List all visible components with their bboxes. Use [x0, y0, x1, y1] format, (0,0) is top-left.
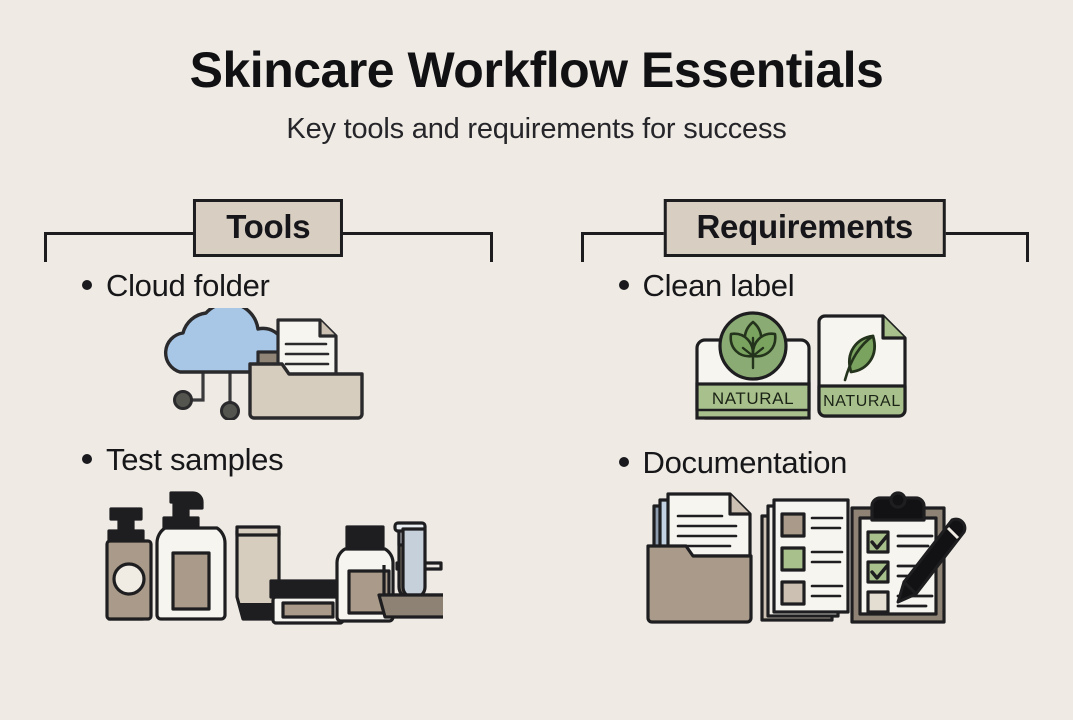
list-item-clean-label: Clean label NATURAL [537, 268, 1073, 423]
columns-container: Tools Cloud folder [0, 196, 1073, 634]
natural-badge-text-1: NATURAL [712, 389, 794, 408]
bullet-dot-icon [619, 457, 629, 467]
bullet-dot-icon [619, 280, 629, 290]
page-subtitle: Key tools and requirements for success [0, 113, 1073, 146]
bullet-dot-icon [82, 280, 92, 290]
bullet-row-test-samples: Test samples [0, 442, 537, 478]
illustration-cloud-folder [0, 308, 537, 420]
illustration-test-samples [0, 481, 537, 631]
section-header-requirements: Requirements [537, 196, 1073, 268]
column-tools: Tools Cloud folder [0, 196, 537, 634]
bullet-row-clean-label: Clean label [537, 268, 1073, 304]
bullet-label-clean-label: Clean label [643, 268, 795, 304]
list-item-test-samples: Test samples [0, 442, 537, 632]
bullet-label-test-samples: Test samples [106, 442, 283, 478]
page-title: Skincare Workflow Essentials [0, 44, 1073, 97]
column-requirements: Requirements Clean label NATURAL [537, 196, 1073, 634]
list-item-cloud-folder: Cloud folder [0, 268, 537, 420]
illustration-documentation [537, 484, 1073, 634]
bullet-row-documentation: Documentation [537, 445, 1073, 481]
heading-label-tools: Tools [226, 209, 310, 245]
bullet-label-cloud-folder: Cloud folder [106, 268, 270, 304]
natural-badge-text-2: NATURAL [823, 393, 901, 410]
illustration-clean-label: NATURAL NATURAL [537, 308, 1073, 423]
page-header: Skincare Workflow Essentials Key tools a… [0, 0, 1073, 146]
heading-box-tools: Tools [193, 199, 343, 257]
bullet-row-cloud-folder: Cloud folder [0, 268, 537, 304]
bullet-dot-icon [82, 454, 92, 464]
list-item-documentation: Documentation [537, 445, 1073, 635]
heading-box-requirements: Requirements [664, 199, 946, 257]
heading-label-requirements: Requirements [697, 209, 913, 245]
section-header-tools: Tools [0, 196, 537, 268]
bullet-label-documentation: Documentation [643, 445, 848, 481]
